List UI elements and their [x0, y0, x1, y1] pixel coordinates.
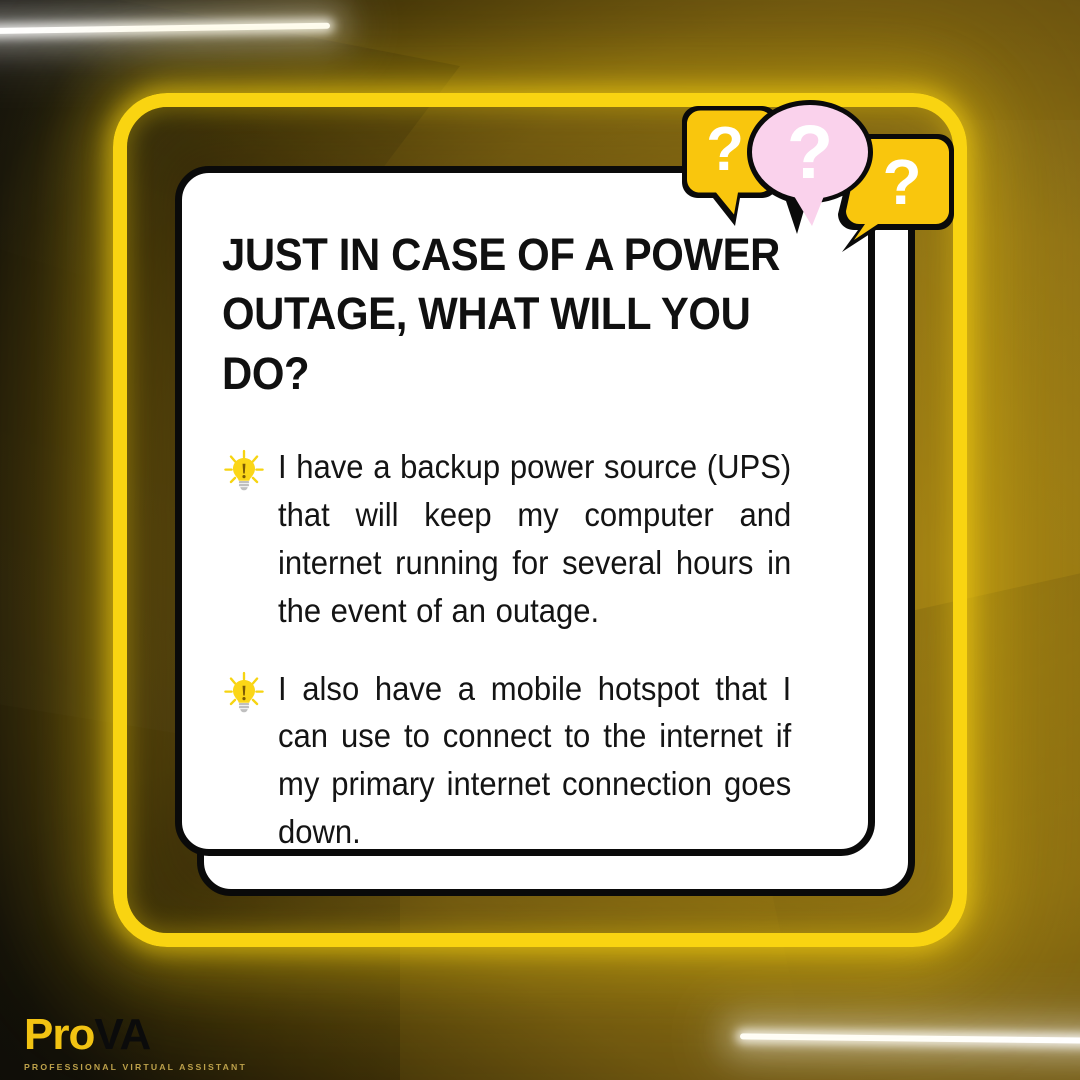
- light-streak-top-left: [0, 23, 330, 36]
- logo-va-text: VA: [94, 1010, 150, 1059]
- question-mark-glyph: ?: [787, 110, 833, 195]
- question-mark-glyph: ?: [706, 115, 744, 184]
- question-mark-glyph: ?: [882, 146, 921, 218]
- list-item-text: I have a backup power source (UPS) that …: [278, 443, 791, 634]
- poster-canvas: JUST IN CASE OF A POWER OUTAGE, WHAT WIL…: [0, 0, 1080, 1080]
- question-bubble-cluster: ? ? ?: [668, 86, 968, 286]
- answer-list: I have a backup power source (UPS) that …: [222, 443, 824, 856]
- logo-tagline: PROFESSIONAL VIRTUAL ASSISTANT: [24, 1062, 259, 1072]
- logo-wordmark: ProVA: [24, 1013, 254, 1057]
- lightbulb-icon: [222, 671, 270, 715]
- list-item: I also have a mobile hotspot that I can …: [222, 665, 824, 856]
- light-streak-bottom-right: [740, 1033, 1080, 1044]
- logo-pro-text: Pro: [24, 1010, 94, 1059]
- lightbulb-icon: [222, 449, 270, 493]
- list-item: I have a backup power source (UPS) that …: [222, 443, 824, 634]
- brand-logo: ProVA PROFESSIONAL VIRTUAL ASSISTANT: [24, 1013, 254, 1072]
- list-item-text: I also have a mobile hotspot that I can …: [278, 665, 791, 856]
